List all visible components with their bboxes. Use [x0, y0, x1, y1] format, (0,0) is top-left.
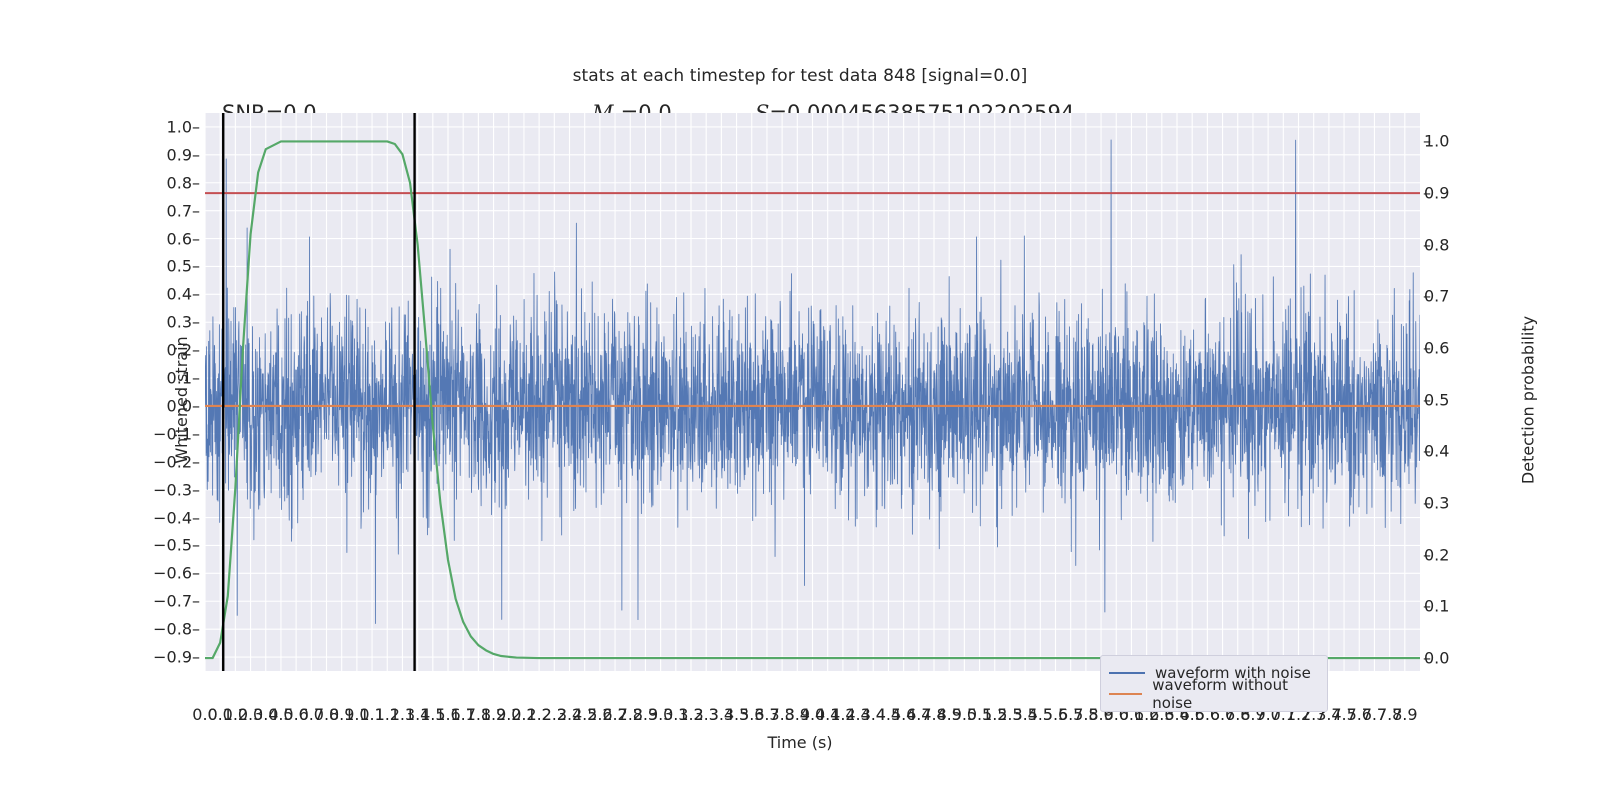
y-tick-mark-right-3: – [1423, 287, 1431, 306]
y-tick-mark-left-10: – [192, 396, 200, 415]
y-tick-mark-left-5: – [192, 257, 200, 276]
y-tick-mark-right-7: – [1423, 494, 1431, 513]
y-tick-mark-left-3: – [192, 201, 200, 220]
y-tick-left-14: −0.4 [153, 508, 192, 527]
x-tick-79: 7.9 [1392, 705, 1417, 724]
y-tick-left-19: −0.9 [153, 648, 192, 667]
y-tick-left-2: 0.8 [167, 173, 192, 192]
y-tick-left-10: 0.0 [167, 396, 192, 415]
y-tick-mark-right-2: – [1423, 235, 1431, 254]
legend-label-waveform-without-noise: waveform without noise [1152, 676, 1319, 712]
y-tick-mark-right-6: – [1423, 442, 1431, 461]
y-tick-left-12: −0.2 [153, 452, 192, 471]
y-tick-mark-left-6: – [192, 285, 200, 304]
y-tick-mark-left-7: – [192, 313, 200, 332]
legend: waveform with noise waveform without noi… [1100, 655, 1328, 712]
y-tick-left-5: 0.5 [167, 257, 192, 276]
y-tick-left-8: 0.2 [167, 341, 192, 360]
y-tick-mark-right-10: – [1423, 649, 1431, 668]
y-tick-mark-left-16: – [192, 564, 200, 583]
legend-swatch-waveform-without-noise [1109, 693, 1142, 695]
y-tick-left-7: 0.3 [167, 313, 192, 332]
y-tick-mark-right-5: – [1423, 390, 1431, 409]
y-tick-mark-left-13: – [192, 480, 200, 499]
y-tick-mark-left-15: – [192, 536, 200, 555]
y-tick-mark-left-12: – [192, 452, 200, 471]
legend-swatch-waveform-with-noise [1109, 672, 1145, 674]
y-tick-mark-left-11: – [192, 424, 200, 443]
figure-canvas: stats at each timestep for test data 848… [0, 0, 1600, 800]
y-tick-mark-right-0: – [1423, 132, 1431, 151]
y-tick-left-6: 0.4 [167, 285, 192, 304]
y-tick-mark-left-8: – [192, 341, 200, 360]
y-tick-left-1: 0.9 [167, 145, 192, 164]
data-lines [205, 113, 1420, 671]
y-tick-mark-left-19: – [192, 648, 200, 667]
y-tick-left-9: 0.1 [167, 369, 192, 388]
chart-title: stats at each timestep for test data 848… [0, 66, 1600, 86]
plot-area [205, 113, 1420, 671]
y-tick-mark-left-17: – [192, 592, 200, 611]
y-tick-left-0: 1.0 [167, 117, 192, 136]
y-axis-label-right: Detection probability [1519, 316, 1538, 484]
legend-item-1[interactable]: waveform without noise [1109, 683, 1319, 704]
y-tick-mark-right-8: – [1423, 545, 1431, 564]
y-tick-left-17: −0.7 [153, 592, 192, 611]
y-tick-mark-left-14: – [192, 508, 200, 527]
y-tick-mark-right-1: – [1423, 184, 1431, 203]
y-tick-left-15: −0.5 [153, 536, 192, 555]
y-tick-left-11: −0.1 [153, 424, 192, 443]
y-tick-mark-right-9: – [1423, 597, 1431, 616]
y-tick-mark-left-9: – [192, 369, 200, 388]
y-tick-mark-left-0: – [192, 117, 200, 136]
x-axis-label: Time (s) [0, 733, 1600, 752]
y-tick-mark-right-4: – [1423, 339, 1431, 358]
y-tick-left-4: 0.6 [167, 229, 192, 248]
y-tick-left-3: 0.7 [167, 201, 192, 220]
y-tick-left-18: −0.8 [153, 620, 192, 639]
y-tick-left-16: −0.6 [153, 564, 192, 583]
y-tick-left-13: −0.3 [153, 480, 192, 499]
y-tick-mark-left-1: – [192, 145, 200, 164]
y-tick-mark-left-18: – [192, 620, 200, 639]
y-tick-mark-left-4: – [192, 229, 200, 248]
y-tick-mark-left-2: – [192, 173, 200, 192]
